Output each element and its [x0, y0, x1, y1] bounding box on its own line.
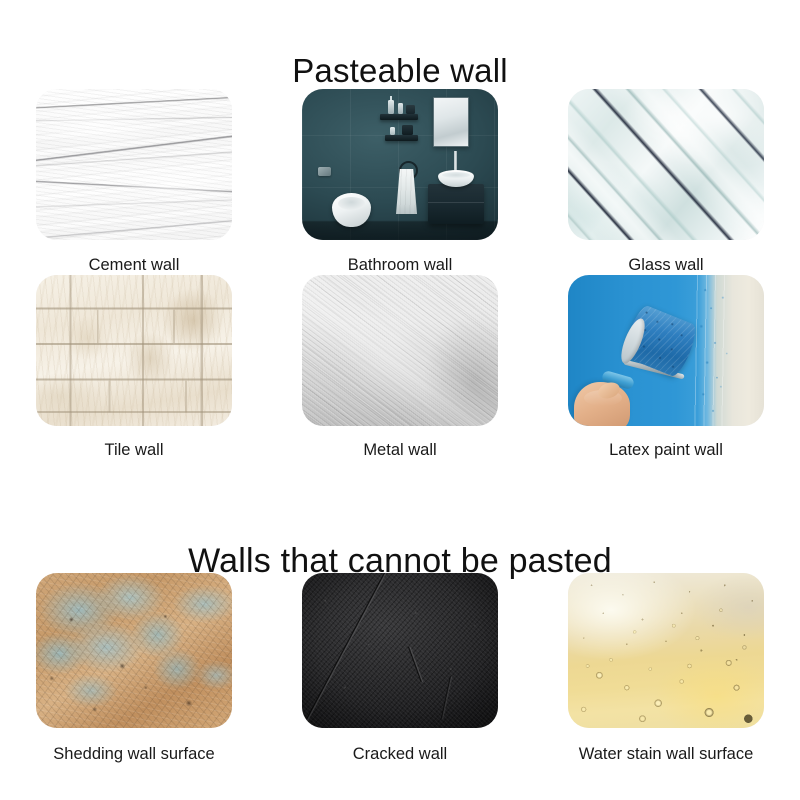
shedding-wall-photo — [36, 573, 232, 728]
wall-caption-tile-wall: Tile wall — [36, 440, 232, 460]
pasteable-wall-grid: Cement wall — [36, 89, 764, 460]
bathroom-bottle-d — [390, 127, 395, 135]
cement-wall-photo — [36, 89, 232, 240]
pasteable-section-title: Pasteable wall — [0, 51, 800, 91]
bathroom-bottle-c — [406, 105, 415, 114]
wall-caption-bathroom-wall: Bathroom wall — [302, 255, 498, 275]
bathroom-flush-plate — [318, 167, 331, 176]
wall-caption-cracked-wall: Cracked wall — [302, 744, 498, 764]
wall-caption-shedding-wall-surface: Shedding wall surface — [36, 744, 232, 764]
bathroom-faucet — [454, 151, 457, 172]
water-stain-wall-photo — [568, 573, 764, 728]
wall-caption-water-stain-wall-surface: Water stain wall surface — [568, 744, 764, 764]
shedding-dark-pits — [36, 573, 232, 728]
tile-wall-photo — [36, 275, 232, 426]
wall-card-latex-paint-wall[interactable]: Latex paint wall — [568, 275, 764, 460]
cracked-vignette — [302, 573, 498, 728]
not-pasteable-wall-grid: Shedding wall surface Cracked wall — [36, 573, 764, 764]
wall-card-glass-wall[interactable]: Glass wall — [568, 89, 764, 275]
wall-caption-glass-wall: Glass wall — [568, 255, 764, 275]
wall-card-cracked-wall[interactable]: Cracked wall — [302, 573, 498, 764]
wall-caption-latex-paint-wall: Latex paint wall — [568, 440, 764, 460]
metal-wall-photo — [302, 275, 498, 426]
bathroom-shelf-upper — [380, 114, 418, 120]
bathroom-bottle-e — [402, 125, 413, 135]
wall-card-bathroom-wall[interactable]: Bathroom wall — [302, 89, 498, 275]
wall-caption-metal-wall: Metal wall — [302, 440, 498, 460]
bathroom-vanity — [428, 184, 484, 224]
glass-pane-edges — [568, 89, 764, 240]
water-droplets-large — [568, 573, 764, 728]
bathroom-bottle-a — [388, 100, 394, 114]
metal-specular-sheen — [302, 275, 498, 426]
infographic-page: Pasteable wall Cement wall — [0, 0, 800, 800]
cement-grain-layer — [36, 89, 232, 240]
wall-card-water-stain-wall-surface[interactable]: Water stain wall surface — [568, 573, 764, 764]
bathroom-bottle-b — [398, 103, 403, 114]
bathroom-wall-photo — [302, 89, 498, 240]
wall-card-tile-wall[interactable]: Tile wall — [36, 275, 232, 460]
bathroom-shelf-lower — [385, 135, 418, 141]
cracked-wall-photo — [302, 573, 498, 728]
wall-card-cement-wall[interactable]: Cement wall — [36, 89, 232, 275]
bathroom-mirror — [433, 97, 469, 147]
wall-card-metal-wall[interactable]: Metal wall — [302, 275, 498, 460]
wall-caption-cement-wall: Cement wall — [36, 255, 232, 275]
glass-wall-photo — [568, 89, 764, 240]
latex-paint-wall-photo — [568, 275, 764, 426]
wall-card-shedding-wall-surface[interactable]: Shedding wall surface — [36, 573, 232, 764]
